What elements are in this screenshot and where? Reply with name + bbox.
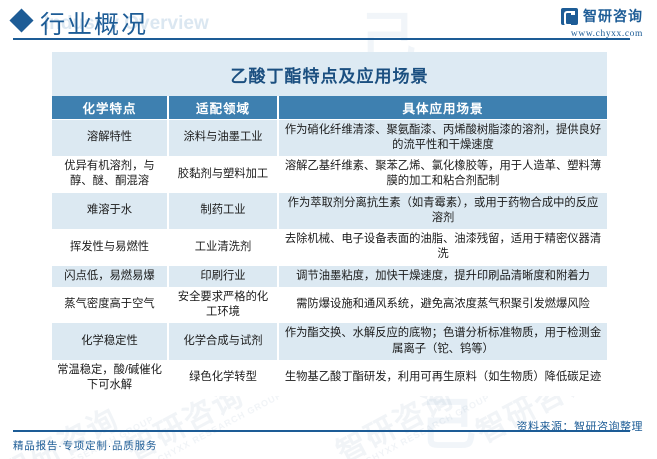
cell-feature: 蒸气密度高于空气 [52,287,168,324]
card-title: 乙酸丁酯特点及应用场景 [231,62,429,87]
cell-feature: 难溶于水 [52,193,168,230]
cell-scenario: 作为萃取剂分离抗生素（如青霉素），或用于药物合成中的反应溶剂 [278,193,607,230]
cell-feature: 常温稳定，酸/碱催化下可水解 [52,360,168,397]
cell-scenario: 生物基乙酸丁酯研发，利用可再生原料（如生物质）降低碳足迹 [278,360,607,397]
cell-field: 胶黏剂与塑料加工 [168,156,278,193]
page-title: 行业概况 [40,5,148,41]
cell-scenario: 作为酯交换、水解反应的底物；色谱分析标准物质，用于检测金属离子（铊、钨等） [278,323,607,360]
features-table: 化学特点 适配领域 具体应用场景 溶解特性 涂料与油墨工业 作为硝化纤维清漆、聚… [52,96,607,396]
page-header: Industry Overview 行业概况 智研咨询 www.chyxx.co… [0,0,657,46]
cell-feature: 闪点低，易燃易爆 [52,266,168,287]
table-row: 闪点低，易燃易爆 印刷行业 调节油墨粘度，加快干燥速度，提升印刷品清晰度和附着力 [52,266,607,287]
table-row: 常温稳定，酸/碱催化下可水解 绿色化学转型 生物基乙酸丁酯研发，利用可再生原料（… [52,360,607,397]
cell-scenario: 需防爆设施和通风系统，避免高浓度蒸气积聚引发燃爆风险 [278,287,607,324]
footer-tagline: 精品报告·专项定制·品质服务 [13,438,157,453]
cell-feature: 化学稳定性 [52,323,168,360]
column-header-field: 适配领域 [168,96,278,119]
cell-field: 印刷行业 [168,266,278,287]
column-header-feature: 化学特点 [52,96,168,119]
source-note: 资料来源：智研咨询整理 [517,418,644,434]
table-row: 难溶于水 制药工业 作为萃取剂分离抗生素（如青霉素），或用于药物合成中的反应溶剂 [52,193,607,230]
cell-field: 制药工业 [168,193,278,230]
table-row: 优异有机溶剂，与醇、醚、酮混溶 胶黏剂与塑料加工 溶解乙基纤维素、聚苯乙烯、氯化… [52,156,607,193]
card-title-bar: 乙酸丁酯特点及应用场景 [52,52,607,96]
cell-feature: 溶解特性 [52,119,168,156]
table-body: 溶解特性 涂料与油墨工业 作为硝化纤维清漆、聚氨酯漆、丙烯酸树脂漆的溶剂，提供良… [52,119,607,396]
cell-scenario: 溶解乙基纤维素、聚苯乙烯、氯化橡胶等，用于人造革、塑料薄膜的加工和粘合剂配制 [278,156,607,193]
table-header-row: 化学特点 适配领域 具体应用场景 [52,96,607,119]
watermark-text-small: CHYXX RESEARCH GROUP [364,392,492,459]
table-row: 蒸气密度高于空气 安全要求严格的化工环境 需防爆设施和通风系统，避免高浓度蒸气积… [52,287,607,324]
cell-field: 绿色化学转型 [168,360,278,397]
table-row: 挥发性与易燃性 工业清洗剂 去除机械、电子设备表面的油脂、油漆残留，适用于精密仪… [52,229,607,266]
watermark-text-small: CHYXX RESEARCH GROUP [156,390,284,459]
column-header-scenario: 具体应用场景 [278,96,607,119]
brand-url[interactable]: www.chyxx.com [561,29,643,39]
cell-field: 工业清洗剂 [168,229,278,266]
brand-logo-icon [561,8,578,25]
brand-block: 智研咨询 www.chyxx.com [561,6,643,39]
table-row: 化学稳定性 化学合成与试剂 作为酯交换、水解反应的底物；色谱分析标准物质，用于检… [52,323,607,360]
cell-scenario: 去除机械、电子设备表面的油脂、油漆残留，适用于精密仪器清洗 [278,229,607,266]
cell-feature: 优异有机溶剂，与醇、醚、酮混溶 [52,156,168,193]
cell-field: 安全要求严格的化工环境 [168,287,278,324]
cell-feature: 挥发性与易燃性 [52,229,168,266]
cell-scenario: 调节油墨粘度，加快干燥速度，提升印刷品清晰度和附着力 [278,266,607,287]
cell-field: 涂料与油墨工业 [168,119,278,156]
cell-field: 化学合成与试剂 [168,323,278,360]
brand-name: 智研咨询 [583,6,643,26]
table-row: 溶解特性 涂料与油墨工业 作为硝化纤维清漆、聚氨酯漆、丙烯酸树脂漆的溶剂，提供良… [52,119,607,156]
diamond-icon [9,8,33,32]
cell-scenario: 作为硝化纤维清漆、聚氨酯漆、丙烯酸树脂漆的溶剂，提供良好的流平性和干燥速度 [278,119,607,156]
content-card: 乙酸丁酯特点及应用场景 化学特点 适配领域 具体应用场景 溶解特性 涂料与油墨工… [52,52,607,396]
